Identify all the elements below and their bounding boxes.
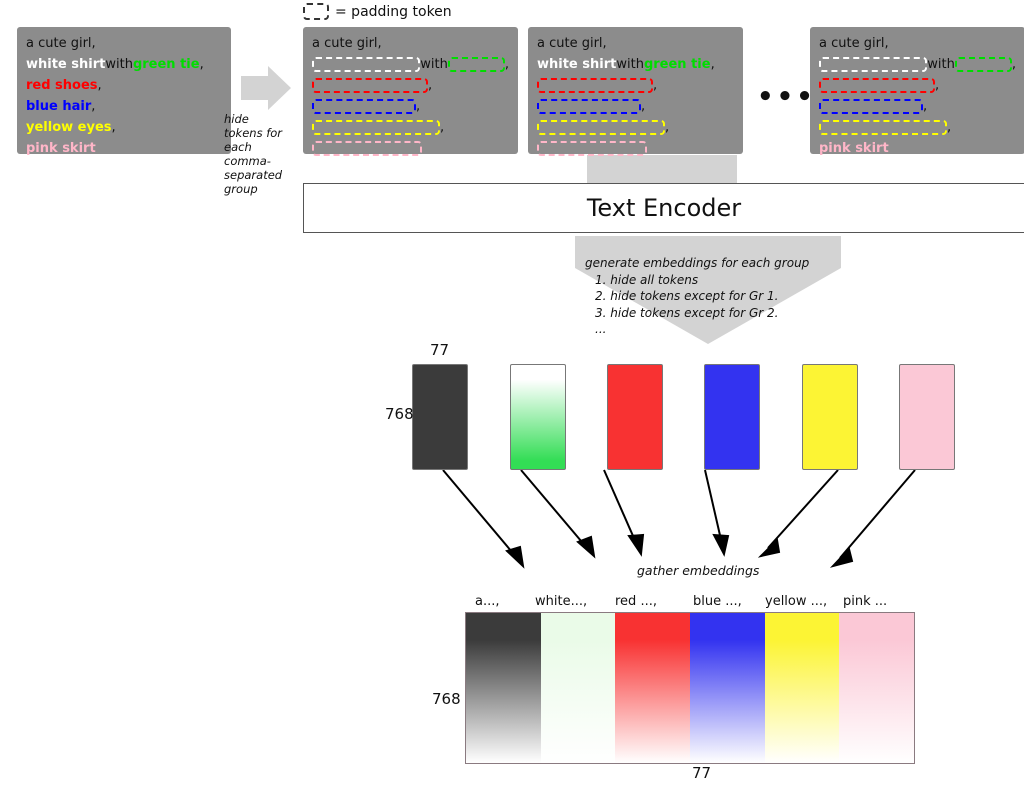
- generate-note-step-1: 1. hide all tokens: [585, 272, 809, 289]
- final-grid-column: [466, 613, 541, 763]
- gather-arrows: [443, 470, 915, 566]
- gather-embeddings-note: gather embeddings: [637, 563, 759, 578]
- prompt-token: green tie: [644, 54, 711, 75]
- prompt-token: a cute girl: [26, 33, 92, 54]
- prompt-token: ,: [200, 54, 204, 75]
- padding-token-box: [312, 57, 420, 72]
- final-grid-column: [615, 613, 690, 763]
- prompt-token: ,: [440, 117, 444, 138]
- padding-token-legend: = padding token: [303, 3, 452, 20]
- embedding-rect-yellow: [802, 364, 858, 470]
- padding-token-box: [819, 78, 935, 93]
- padding-token-box: [312, 141, 422, 156]
- prompt-line: blue hair,: [26, 96, 222, 117]
- panels-ellipsis: •••: [757, 82, 816, 112]
- prompt-token: ,: [416, 96, 420, 117]
- prompt-token: pink skirt: [26, 138, 96, 159]
- embedding-rect-blue: [704, 364, 760, 470]
- masked-prompt-line: pink skirt: [819, 138, 1016, 159]
- embedding-rect-white: [510, 364, 566, 470]
- prompt-line: red shoes,: [26, 75, 222, 96]
- padding-token-box: [537, 99, 641, 114]
- masked-prompt-line: [312, 138, 509, 159]
- prompt-token: ,: [112, 117, 116, 138]
- padding-token-box: [819, 57, 927, 72]
- masked-prompt-line: a cute girl,: [537, 33, 734, 54]
- final-grid-height-label: 768: [432, 690, 461, 708]
- prompt-token: ,: [1012, 54, 1016, 75]
- prompt-token: ,: [653, 75, 657, 96]
- hide-tokens-arrow-icon: [241, 66, 291, 110]
- masked-prompt-line: ,: [312, 96, 509, 117]
- final-grid-column: [765, 613, 840, 763]
- prompt-token: blue hair: [26, 96, 91, 117]
- masked-prompt-line: ,: [819, 96, 1016, 117]
- masked-prompt-line: ,: [819, 75, 1016, 96]
- padding-token-box: [537, 120, 665, 135]
- padding-token-box: [537, 78, 653, 93]
- padding-token-box: [537, 141, 647, 156]
- masked-prompt-line: a cute girl,: [819, 33, 1016, 54]
- final-grid-column-label: pink ...: [843, 594, 887, 609]
- prompt-token: yellow eyes: [26, 117, 112, 138]
- prompt-token: ,: [505, 54, 509, 75]
- prompt-token: ,: [603, 33, 607, 54]
- prompt-token: white shirt: [537, 54, 616, 75]
- generate-note-header: generate embeddings for each group: [585, 255, 809, 272]
- prompt-token: white shirt: [26, 54, 105, 75]
- generate-note-step-2: 2. hide tokens except for Gr 1.: [585, 288, 809, 305]
- prompt-token: a cute girl: [537, 33, 603, 54]
- prompt-line: a cute girl,: [26, 33, 222, 54]
- embedding-rect-pink: [899, 364, 955, 470]
- final-grid-column-label: yellow ...,: [765, 594, 827, 609]
- final-grid-width-label: 77: [692, 764, 711, 782]
- final-grid-labels: a...,white...,red ...,blue ...,yellow ..…: [465, 594, 915, 610]
- padding-token-box: [312, 78, 428, 93]
- padding-token-legend-label: = padding token: [335, 4, 452, 20]
- padding-token-box: [448, 57, 505, 72]
- masked-prompt-line: with ,: [312, 54, 509, 75]
- generate-note-step-3: 3. hide tokens except for Gr 2.: [585, 305, 809, 322]
- prompt-token: with: [420, 54, 448, 75]
- prompt-token: a cute girl: [819, 33, 885, 54]
- embedding-rect-red: [607, 364, 663, 470]
- final-grid-column: [690, 613, 765, 763]
- embedding-height-label: 768: [385, 405, 414, 423]
- final-grid-column: [541, 613, 616, 763]
- padding-token-box: [312, 120, 440, 135]
- prompt-token: with: [927, 54, 955, 75]
- generate-note-step-more: ...: [585, 321, 809, 338]
- generate-embeddings-note: generate embeddings for each group 1. hi…: [585, 255, 809, 338]
- prompt-token: with: [105, 54, 133, 75]
- masked-prompt-line: white shirt with green tie,: [537, 54, 734, 75]
- prompt-token: a cute girl: [312, 33, 378, 54]
- prompt-token: ,: [98, 75, 102, 96]
- prompt-token: green tie: [133, 54, 200, 75]
- prompt-token: ,: [428, 75, 432, 96]
- prompt-token: ,: [91, 96, 95, 117]
- embedding-width-label: 77: [430, 341, 449, 359]
- final-grid-column-label: blue ...,: [693, 594, 742, 609]
- prompt-token: ,: [665, 117, 669, 138]
- prompt-token: ,: [641, 96, 645, 117]
- masked-prompt-line: [537, 138, 734, 159]
- masked-prompt-line: a cute girl,: [312, 33, 509, 54]
- prompt-line: white shirt with green tie,: [26, 54, 222, 75]
- masked-prompt-panel-1: a cute girl, with ,,,,: [303, 27, 518, 154]
- prompt-line: pink skirt: [26, 138, 222, 159]
- padding-token-box: [955, 57, 1012, 72]
- text-encoder-label: Text Encoder: [587, 194, 741, 222]
- final-grid-column-label: a...,: [475, 594, 500, 609]
- masked-prompt-line: ,: [312, 75, 509, 96]
- padding-token-box: [312, 99, 416, 114]
- masked-prompt-line: ,: [537, 75, 734, 96]
- prompt-token: ,: [378, 33, 382, 54]
- padding-token-box: [819, 120, 947, 135]
- masked-prompt-panel-2: a cute girl,white shirt with green tie,,…: [528, 27, 743, 154]
- source-prompt-panel: a cute girl,white shirt with green tie,r…: [17, 27, 231, 154]
- prompt-token: ,: [711, 54, 715, 75]
- masked-prompt-line: ,: [537, 96, 734, 117]
- dashed-box-icon: [303, 3, 329, 20]
- masked-prompt-line: ,: [819, 117, 1016, 138]
- hide-tokens-note: hide tokens for each comma-separated gro…: [224, 112, 284, 196]
- final-grid-column-label: white...,: [535, 594, 587, 609]
- prompt-token: ,: [885, 33, 889, 54]
- masked-prompt-line: ,: [537, 117, 734, 138]
- encoder-input-band: [587, 155, 737, 185]
- prompt-token: pink skirt: [819, 138, 889, 159]
- embedding-rect-a: [412, 364, 468, 470]
- prompt-token: ,: [935, 75, 939, 96]
- final-grid-column: [839, 613, 914, 763]
- prompt-token: ,: [947, 117, 951, 138]
- final-grid-column-label: red ...,: [615, 594, 657, 609]
- prompt-token: red shoes: [26, 75, 98, 96]
- padding-token-box: [819, 99, 923, 114]
- prompt-token: ,: [92, 33, 96, 54]
- final-embedding-grid: [465, 612, 915, 764]
- prompt-line: yellow eyes,: [26, 117, 222, 138]
- masked-prompt-line: with ,: [819, 54, 1016, 75]
- prompt-token: ,: [923, 96, 927, 117]
- masked-prompt-line: ,: [312, 117, 509, 138]
- prompt-token: with: [616, 54, 644, 75]
- text-encoder-box: Text Encoder: [303, 183, 1024, 233]
- masked-prompt-panel-n: a cute girl, with ,,,,pink skirt: [810, 27, 1024, 154]
